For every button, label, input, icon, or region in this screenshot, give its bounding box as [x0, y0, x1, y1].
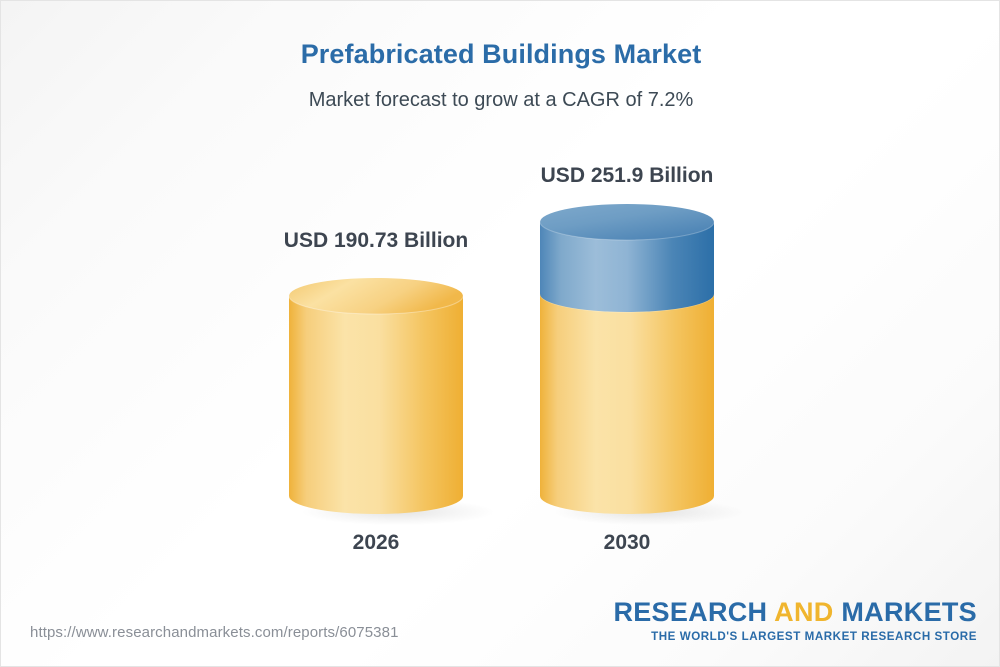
cylinder-2026[interactable]: [289, 278, 463, 538]
logo-tagline: THE WORLD'S LARGEST MARKET RESEARCH STOR…: [613, 631, 977, 643]
logo-word-and: AND: [774, 597, 833, 627]
plot-area: USD 190.73 Billion: [1, 1, 1000, 601]
category-label-2026: 2026: [289, 531, 463, 555]
logo-wordmark: RESEARCH AND MARKETS: [613, 599, 977, 626]
chart-canvas: Prefabricated Buildings Market Market fo…: [0, 0, 1000, 667]
report-url[interactable]: https://www.researchandmarkets.com/repor…: [30, 624, 399, 641]
category-label-2030: 2030: [540, 531, 714, 555]
value-label-2030: USD 251.9 Billion: [477, 164, 777, 188]
logo-word-research: RESEARCH: [613, 597, 767, 627]
cylinder-2030[interactable]: [540, 204, 714, 529]
cylinder-body-2026: [289, 296, 463, 514]
value-label-2026: USD 190.73 Billion: [226, 229, 526, 253]
research-and-markets-logo[interactable]: RESEARCH AND MARKETS THE WORLD'S LARGEST…: [613, 599, 977, 643]
cylinder-base-segment-2030: [540, 294, 714, 514]
logo-word-markets: MARKETS: [841, 597, 977, 627]
